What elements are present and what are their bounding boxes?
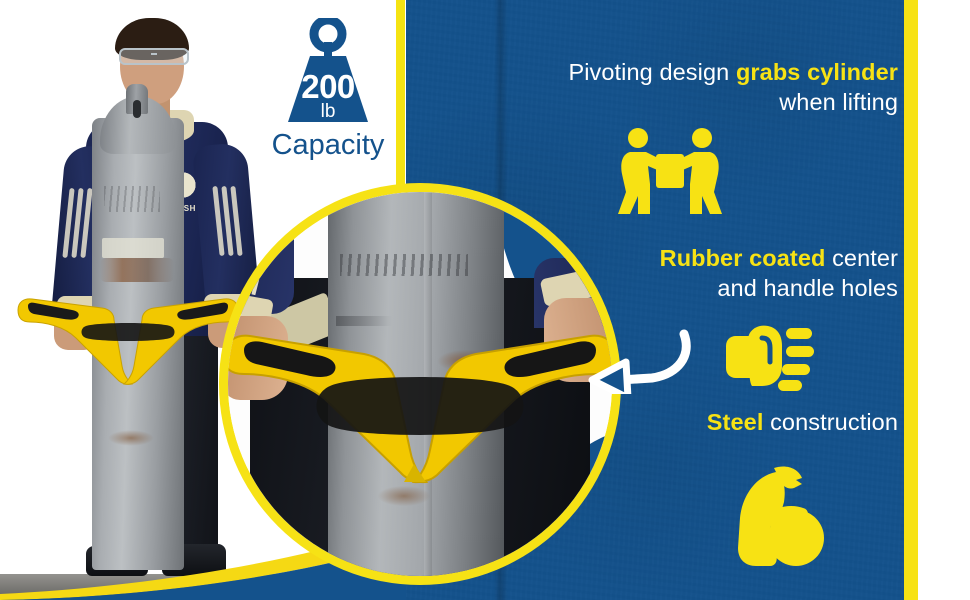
capacity-badge: 200 lb Capacity [258,18,398,168]
capacity-unit: lb [258,102,398,121]
fist-grip-icon [722,322,814,396]
product-feature-banner: IRISH [0,0,970,600]
flexed-bicep-icon [726,462,826,570]
feature-text-line2: when lifting [478,88,898,118]
inset-cylinder-lifter [228,332,612,492]
cylinder-rust [100,258,174,282]
inset-cylinder-marks [340,254,468,276]
inset-scene [228,192,612,576]
capacity-label: Capacity [258,130,398,162]
feature-text-line1: Pivoting design grabs cylinder [478,58,898,88]
cylinder-valve-opening [133,100,141,118]
right-white-margin [918,0,970,600]
capacity-number: 200 [258,70,398,103]
feature-highlight-text: Rubber coated [660,245,826,271]
cylinder-stamped-marks [104,186,160,212]
feature-highlight-text: grabs cylinder [736,59,898,85]
feature-plain-text: center [825,245,898,271]
magnified-detail-circle [228,192,612,576]
inset-cylinder-marks [336,316,392,326]
feature-pivoting-design: Pivoting design grabs cylinder when lift… [478,58,898,117]
two-people-lifting-icon [618,126,722,218]
cylinder-lifter-yellow [14,296,242,392]
feature-highlight-text: Steel [707,409,764,435]
cylinder-rust [108,430,154,446]
feature-plain-text: construction [763,409,898,435]
right-yellow-stripe [904,0,918,600]
safety-glasses-icon [119,48,189,65]
curved-arrow-left-icon [574,322,696,394]
feature-plain-text: Pivoting design [568,59,736,85]
cylinder-label [102,238,164,258]
